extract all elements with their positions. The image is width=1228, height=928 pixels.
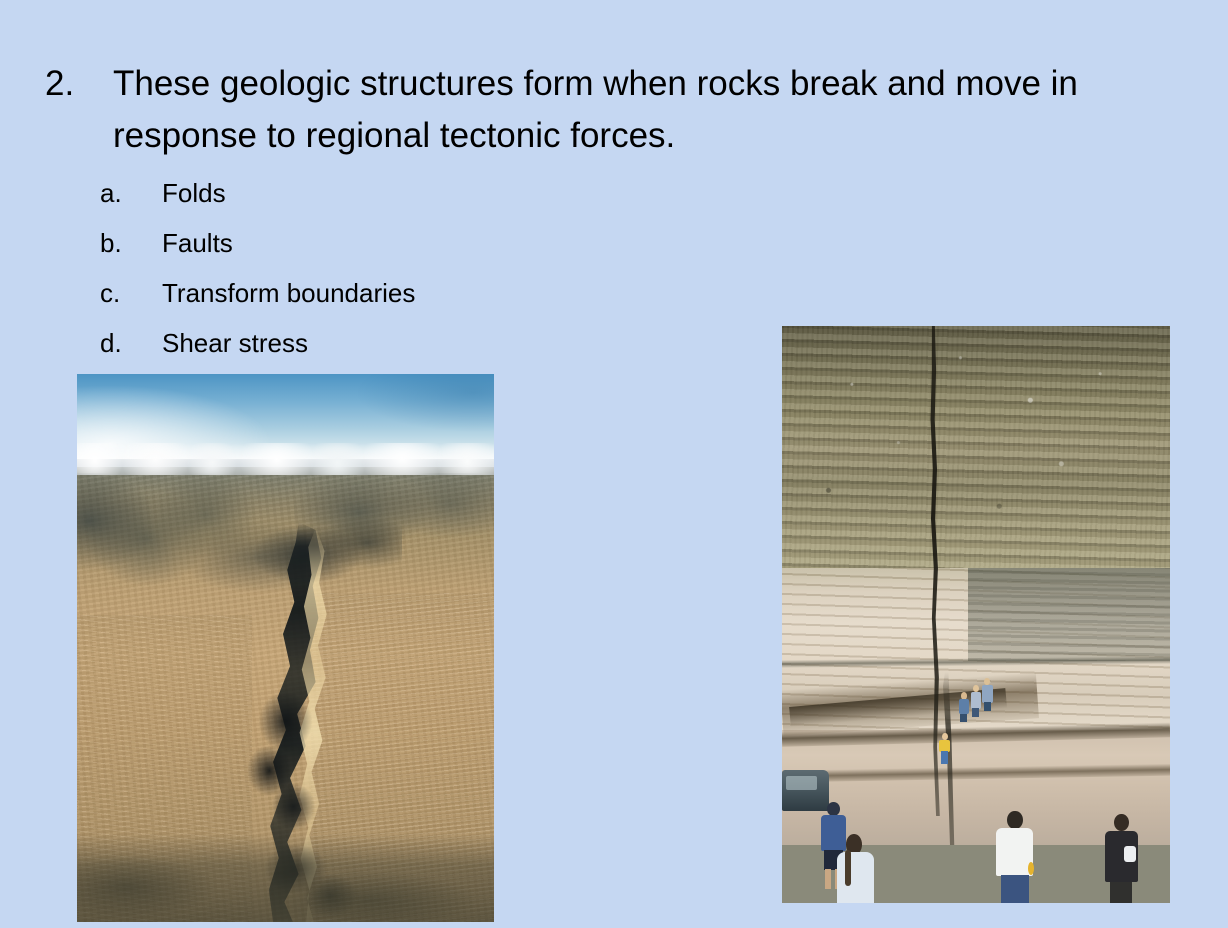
ledge-person-3 [982, 678, 993, 710]
ledge-person-4-yellow [939, 733, 950, 764]
option-a[interactable]: a. Folds [100, 168, 800, 218]
option-d[interactable]: d. Shear stress [100, 318, 800, 368]
question-text: These geologic structures form when rock… [113, 58, 1175, 162]
option-b-letter: b. [100, 218, 162, 268]
option-c-letter: c. [100, 268, 162, 318]
option-a-label: Folds [162, 168, 800, 218]
ledge-person-2 [971, 685, 981, 716]
option-b[interactable]: b. Faults [100, 218, 800, 268]
parked-van-window [786, 776, 817, 790]
faulted-outcrop-photo [782, 326, 1170, 903]
foreground-person-white-shirt [995, 811, 1034, 903]
option-d-letter: d. [100, 318, 162, 368]
foreground-person-ponytail [836, 834, 875, 903]
fault-scarp-shadow [235, 692, 335, 856]
answer-options-list: a. Folds b. Faults c. Transform boundari… [100, 168, 800, 368]
foreground-ridge [77, 834, 494, 922]
middle-dark-bed [968, 568, 1170, 660]
option-b-label: Faults [162, 218, 800, 268]
option-a-letter: a. [100, 168, 162, 218]
slide: 2. These geologic structures form when r… [0, 0, 1228, 928]
question-block: 2. These geologic structures form when r… [45, 58, 1175, 162]
option-d-label: Shear stress [162, 318, 800, 368]
option-c[interactable]: c. Transform boundaries [100, 268, 800, 318]
foreground-person-dark-jacket [1104, 814, 1139, 903]
san-andreas-fault-aerial-photo [77, 374, 494, 922]
upper-rock-grain [782, 326, 1170, 591]
ledge-person-1 [959, 692, 969, 721]
option-c-label: Transform boundaries [162, 268, 800, 318]
question-number: 2. [45, 58, 113, 110]
